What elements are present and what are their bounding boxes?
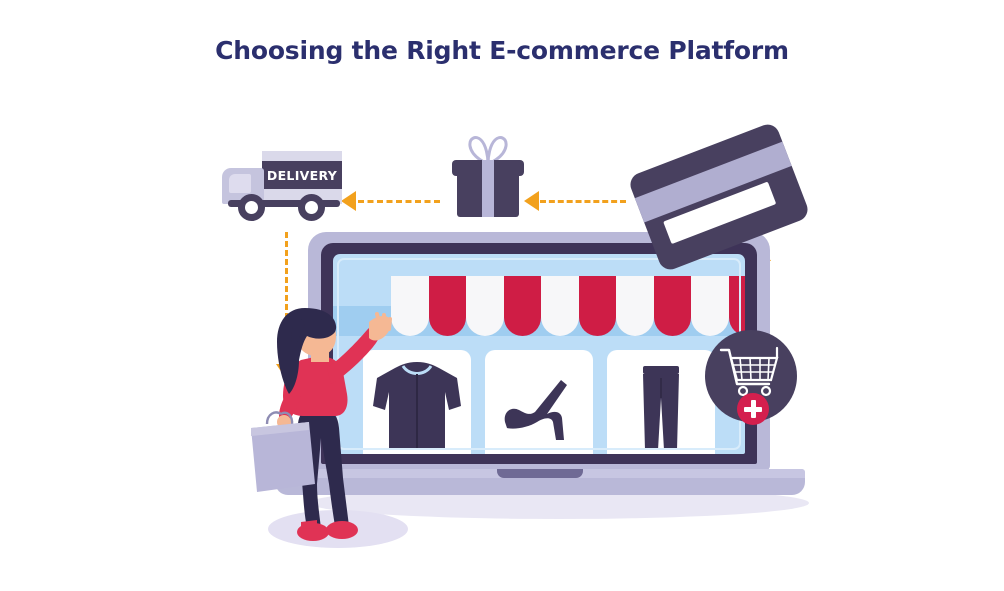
shopping-bag-icon bbox=[247, 406, 327, 502]
truck-label-text: DELIVERY bbox=[262, 162, 342, 188]
truck-window bbox=[229, 174, 251, 193]
woman-shoe-right bbox=[326, 521, 358, 539]
arrow-gift-to-card-head bbox=[524, 191, 539, 211]
gift-ribbon-lid bbox=[482, 160, 494, 176]
delivery-truck-icon: DELIVERY bbox=[222, 148, 342, 220]
arrow-truck-to-gift-head bbox=[341, 191, 356, 211]
truck-wheel-rear bbox=[298, 194, 325, 221]
illustration-canvas: Choosing the Right E-commerce Platform D… bbox=[0, 0, 1004, 591]
page-title: Choosing the Right E-commerce Platform bbox=[0, 36, 1004, 65]
plus-vertical bbox=[751, 400, 756, 418]
truck-wheel-front bbox=[238, 194, 265, 221]
credit-card-icon bbox=[627, 121, 811, 273]
woman-shopper bbox=[243, 298, 423, 558]
laptop-trackpad-notch bbox=[497, 469, 583, 478]
shopping-cart-icon[interactable] bbox=[705, 330, 797, 422]
gift-box-icon bbox=[452, 132, 524, 216]
arrow-truck-to-gift-line bbox=[358, 200, 440, 203]
arrow-gift-to-card-line bbox=[540, 200, 626, 203]
plus-badge-icon[interactable] bbox=[737, 393, 769, 425]
